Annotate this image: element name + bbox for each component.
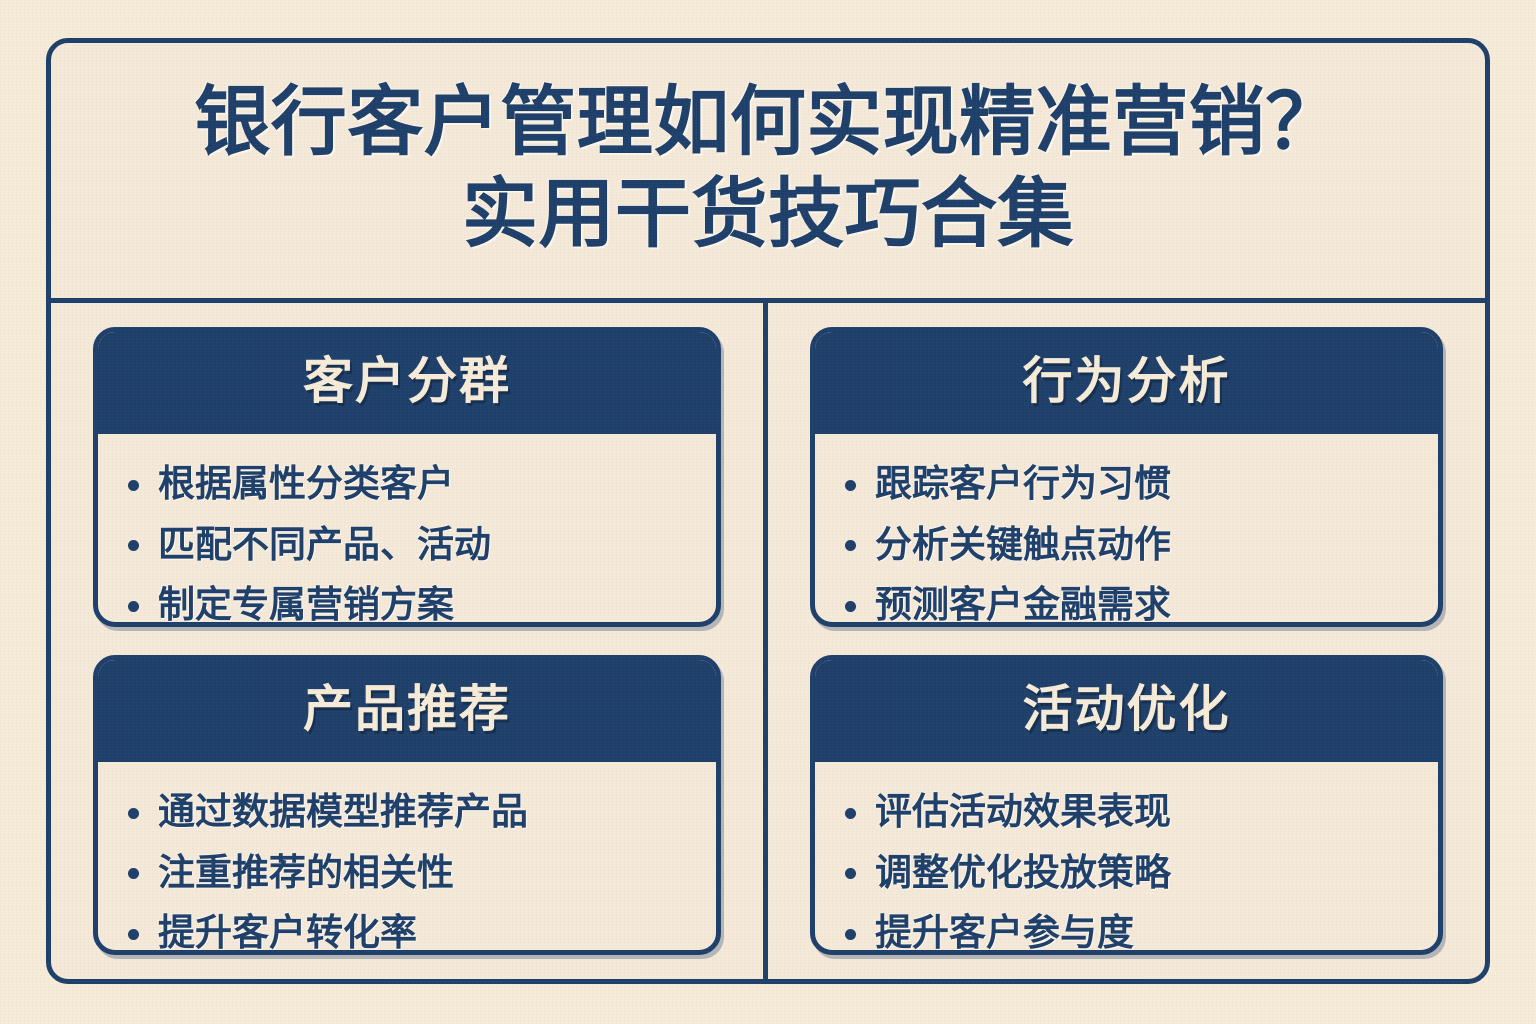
bullet-dot-icon (128, 868, 139, 879)
card-title-product-recommendation: 产品推荐 (303, 684, 511, 734)
card-campaign-optimization: 活动优化 评估活动效果表现 调整优化投放策略 提升客户参与度 (810, 655, 1443, 955)
card-header-customer-segmentation: 客户分群 (98, 332, 716, 434)
list-item: 提升客户转化率 (128, 907, 698, 955)
card-title-behavior-analysis: 行为分析 (1023, 356, 1231, 406)
card-body-behavior-analysis: 跟踪客户行为习惯 分析关键触点动作 预测客户金融需求 (815, 434, 1438, 627)
bullet-dot-icon (845, 540, 856, 551)
bullet-dot-icon (128, 808, 139, 819)
card-column-left: 客户分群 根据属性分类客户 匹配不同产品、活动 制定专属营销方案 (51, 303, 768, 979)
bullet-dot-icon (845, 929, 856, 940)
bullet-label: 提升客户参与度 (875, 907, 1134, 955)
card-product-recommendation: 产品推荐 通过数据模型推荐产品 注重推荐的相关性 提升客户转化率 (93, 655, 721, 955)
card-body-customer-segmentation: 根据属性分类客户 匹配不同产品、活动 制定专属营销方案 (98, 434, 716, 627)
bullet-label: 评估活动效果表现 (875, 786, 1171, 839)
bullet-label: 通过数据模型推荐产品 (158, 786, 528, 839)
card-header-behavior-analysis: 行为分析 (815, 332, 1438, 434)
card-grid: 客户分群 根据属性分类客户 匹配不同产品、活动 制定专属营销方案 (51, 303, 1485, 979)
bullet-label: 分析关键触点动作 (875, 519, 1171, 572)
bullet-label: 预测客户金融需求 (875, 579, 1171, 627)
bullet-dot-icon (845, 601, 856, 612)
infographic-poster: 银行客户管理如何实现精准营销？ 实用干货技巧合集 客户分群 根据属性分类客户 匹… (46, 38, 1490, 984)
bullet-label: 制定专属营销方案 (158, 579, 454, 627)
bullet-dot-icon (128, 929, 139, 940)
list-item: 调整优化投放策略 (845, 847, 1420, 900)
bullet-label: 调整优化投放策略 (875, 847, 1171, 900)
card-body-product-recommendation: 通过数据模型推荐产品 注重推荐的相关性 提升客户转化率 (98, 762, 716, 955)
bullet-dot-icon (128, 540, 139, 551)
list-item: 注重推荐的相关性 (128, 847, 698, 900)
list-item: 制定专属营销方案 (128, 579, 698, 627)
list-item: 匹配不同产品、活动 (128, 519, 698, 572)
list-item: 提升客户参与度 (845, 907, 1420, 955)
page-title-line-1: 银行客户管理如何实现精准营销？ (194, 78, 1342, 168)
list-item: 预测客户金融需求 (845, 579, 1420, 627)
card-title-campaign-optimization: 活动优化 (1023, 684, 1231, 734)
bullet-dot-icon (128, 601, 139, 612)
bullet-dot-icon (128, 480, 139, 491)
bullet-label: 根据属性分类客户 (158, 458, 454, 511)
bullet-label: 提升客户转化率 (158, 907, 417, 955)
card-header-campaign-optimization: 活动优化 (815, 660, 1438, 762)
card-header-product-recommendation: 产品推荐 (98, 660, 716, 762)
bullet-dot-icon (845, 808, 856, 819)
bullet-label: 匹配不同产品、活动 (158, 519, 491, 572)
card-title-customer-segmentation: 客户分群 (303, 356, 511, 406)
poster-title-block: 银行客户管理如何实现精准营销？ 实用干货技巧合集 (51, 43, 1485, 303)
bullet-label: 注重推荐的相关性 (158, 847, 454, 900)
bullet-dot-icon (845, 480, 856, 491)
card-column-right: 行为分析 跟踪客户行为习惯 分析关键触点动作 预测客户金融需求 (768, 303, 1485, 979)
bullet-label: 跟踪客户行为习惯 (875, 458, 1171, 511)
card-body-campaign-optimization: 评估活动效果表现 调整优化投放策略 提升客户参与度 (815, 762, 1438, 955)
card-behavior-analysis: 行为分析 跟踪客户行为习惯 分析关键触点动作 预测客户金融需求 (810, 327, 1443, 627)
bullet-dot-icon (845, 868, 856, 879)
page-title-line-2: 实用干货技巧合集 (462, 170, 1074, 260)
list-item: 跟踪客户行为习惯 (845, 458, 1420, 511)
list-item: 评估活动效果表现 (845, 786, 1420, 839)
list-item: 根据属性分类客户 (128, 458, 698, 511)
list-item: 分析关键触点动作 (845, 519, 1420, 572)
card-customer-segmentation: 客户分群 根据属性分类客户 匹配不同产品、活动 制定专属营销方案 (93, 327, 721, 627)
list-item: 通过数据模型推荐产品 (128, 786, 698, 839)
